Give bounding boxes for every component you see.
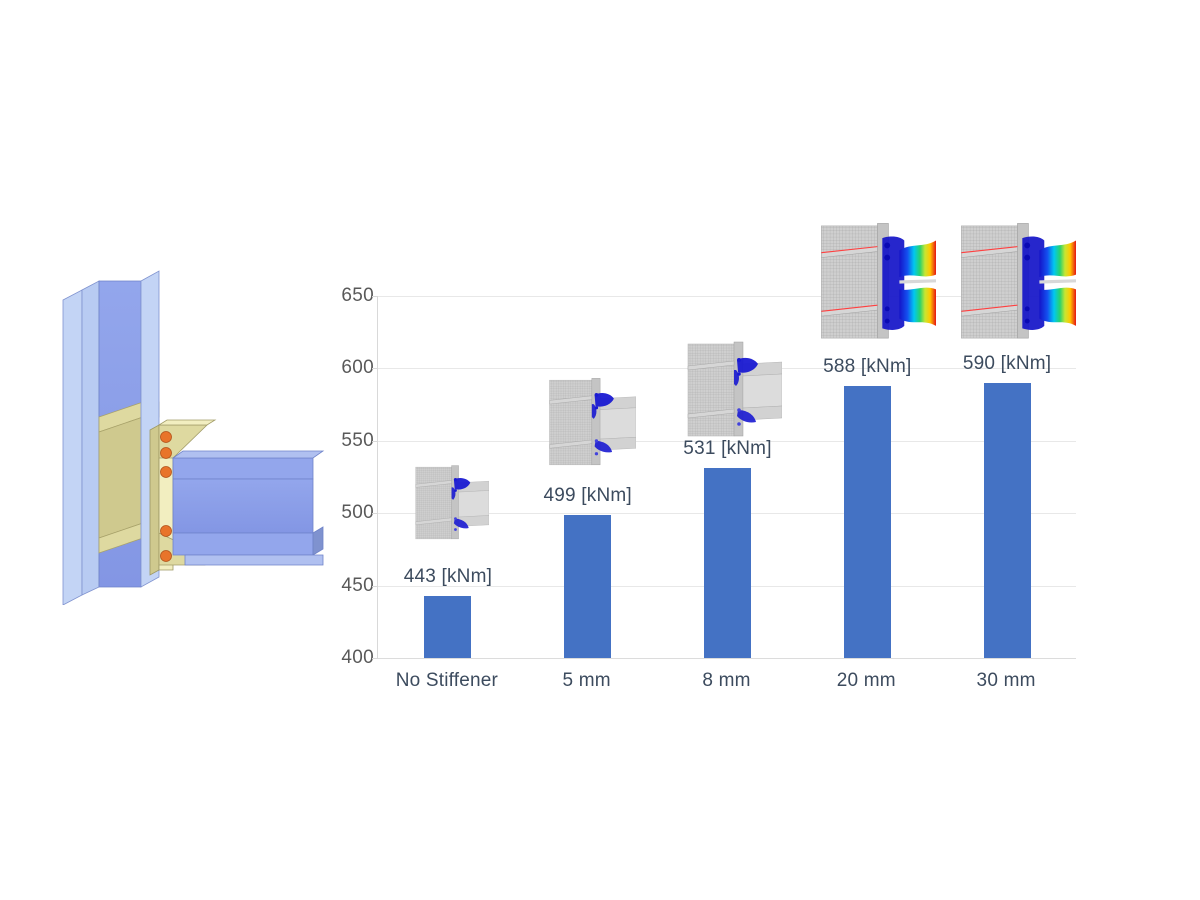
bar-value-label: 443 [kNm] — [404, 566, 492, 588]
bar-value-label: 588 [kNm] — [823, 356, 911, 378]
bar[interactable] — [564, 515, 611, 658]
y-axis-tick-label: 400 — [314, 647, 374, 669]
connection-diagram — [55, 265, 325, 605]
bolt-icon — [161, 551, 172, 562]
beam-web — [173, 479, 313, 533]
bolt-icon — [161, 448, 172, 459]
y-axis-tick-label: 600 — [314, 357, 374, 379]
y-axis-tick-label: 550 — [314, 430, 374, 452]
beam-top-flange — [173, 458, 313, 479]
y-axis-tick-mark — [372, 441, 378, 442]
bolt-icon — [161, 432, 172, 443]
fem-stress-thumbnail — [411, 444, 489, 562]
plot-area: 443 [kNm]499 [kNm]531 [kNm]588 [kNm]590 … — [377, 296, 1076, 658]
figure-canvas: 400450500550600650 443 [kNm]499 [kNm]531… — [0, 0, 1200, 900]
column-web-left — [82, 281, 99, 595]
column-back-flange — [63, 290, 82, 605]
y-axis-tick-mark — [372, 368, 378, 369]
bar-value-label: 499 [kNm] — [543, 485, 631, 507]
bar[interactable] — [704, 468, 751, 658]
y-axis-tick-mark — [372, 586, 378, 587]
haunch-stiffener-upper-top — [159, 420, 215, 425]
y-axis-tick-mark — [372, 296, 378, 297]
y-axis-tick-mark — [372, 513, 378, 514]
fem-stress-thumbnail — [954, 206, 1076, 358]
beam-bottom-flange-far — [185, 555, 323, 565]
y-axis-tick-label: 650 — [314, 285, 374, 307]
connection-diagram-svg — [55, 265, 325, 605]
x-axis-category-label[interactable]: 8 mm — [702, 670, 750, 692]
end-plate-side — [150, 425, 159, 575]
x-axis-category-label[interactable]: 5 mm — [563, 670, 611, 692]
x-axis-category-label[interactable]: 30 mm — [977, 670, 1036, 692]
gridline — [378, 658, 1076, 659]
bolt-icon — [161, 526, 172, 537]
bolt-icon — [161, 467, 172, 478]
x-axis-category-label[interactable]: No Stiffener — [396, 670, 498, 692]
bar[interactable] — [984, 383, 1031, 658]
bar[interactable] — [844, 386, 891, 658]
fem-stress-thumbnail — [814, 206, 936, 358]
bar-chart: 400450500550600650 443 [kNm]499 [kNm]531… — [330, 190, 1130, 700]
panel-zone-plate — [99, 417, 143, 538]
beam-bottom-flange — [173, 533, 313, 555]
y-axis-tick-mark — [372, 658, 378, 659]
bar-value-label: 590 [kNm] — [963, 353, 1051, 375]
x-axis-category-label[interactable]: 20 mm — [837, 670, 896, 692]
fem-stress-thumbnail — [544, 355, 636, 490]
bar-value-label: 531 [kNm] — [683, 438, 771, 460]
beam-top-flange-top — [173, 451, 323, 458]
beam-bottom-flange-side — [313, 527, 323, 555]
bar[interactable] — [424, 596, 471, 658]
y-axis-tick-label: 500 — [314, 502, 374, 524]
y-axis-tick-label: 450 — [314, 575, 374, 597]
